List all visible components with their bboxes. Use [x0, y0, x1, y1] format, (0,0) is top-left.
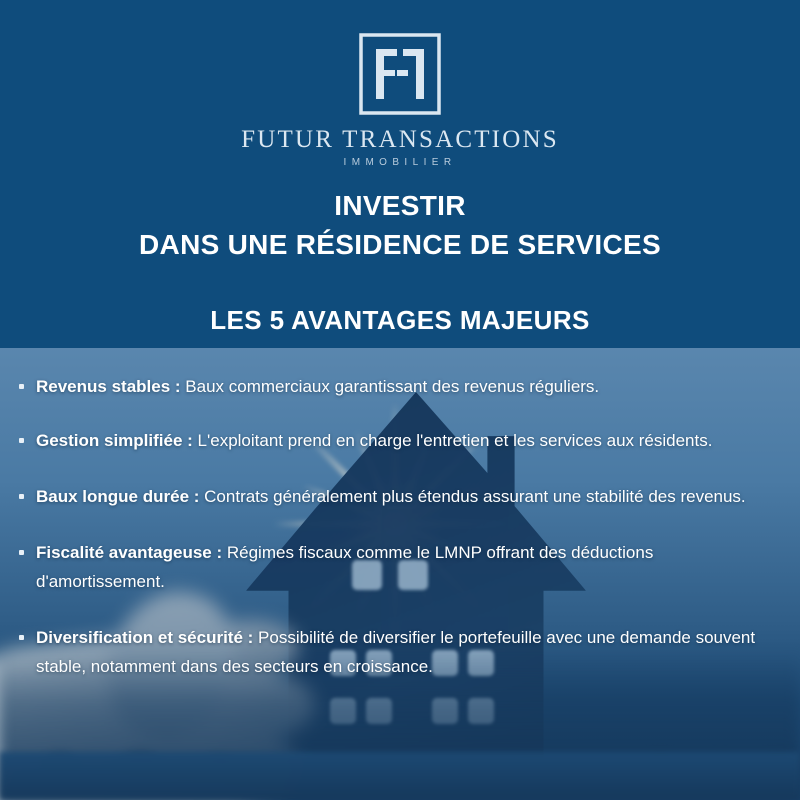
advantage-term: Revenus stables :	[36, 377, 181, 396]
advantage-term: Baux longue durée :	[36, 487, 199, 506]
advantage-term: Diversification et sécurité :	[36, 628, 253, 647]
list-item: Revenus stables : Baux commerciaux garan…	[0, 348, 800, 401]
advantage-description: Contrats généralement plus étendus assur…	[204, 487, 746, 506]
brand-tagline: IMMOBILIER	[0, 157, 800, 168]
brand-logo: FUTUR TRANSACTIONS IMMOBILIER	[0, 30, 800, 168]
advantages-list: Revenus stables : Baux commerciaux garan…	[0, 348, 800, 681]
header-band: FUTUR TRANSACTIONS IMMOBILIER INVESTIR D…	[0, 0, 800, 348]
bullet-icon	[19, 494, 24, 499]
bullet-icon	[19, 635, 24, 640]
bullet-icon	[19, 550, 24, 555]
advantage-description: Baux commerciaux garantissant des revenu…	[185, 377, 599, 396]
list-item: Diversification et sécurité : Possibilit…	[0, 596, 800, 681]
bullet-icon	[19, 384, 24, 389]
list-item: Baux longue durée : Contrats généralemen…	[0, 455, 800, 511]
brand-name: FUTUR TRANSACTIONS	[0, 126, 800, 154]
poster: FUTUR TRANSACTIONS IMMOBILIER INVESTIR D…	[0, 0, 800, 800]
bullet-icon	[19, 438, 24, 443]
water-band	[0, 752, 800, 800]
page-title: INVESTIR DANS UNE RÉSIDENCE DE SERVICES	[0, 186, 800, 264]
headline-line-1: INVESTIR	[0, 186, 800, 225]
advantage-description: L'exploitant prend en charge l'entretien…	[198, 431, 713, 450]
advantage-term: Gestion simplifiée :	[36, 431, 193, 450]
advantage-term: Fiscalité avantageuse :	[36, 543, 222, 562]
futur-transactions-monogram-icon	[356, 30, 444, 118]
list-item: Gestion simplifiée : L'exploitant prend …	[0, 401, 800, 455]
list-item: Fiscalité avantageuse : Régimes fiscaux …	[0, 511, 800, 596]
subheadline: LES 5 AVANTAGES MAJEURS	[0, 305, 800, 336]
headline-line-2: DANS UNE RÉSIDENCE DE SERVICES	[0, 225, 800, 264]
